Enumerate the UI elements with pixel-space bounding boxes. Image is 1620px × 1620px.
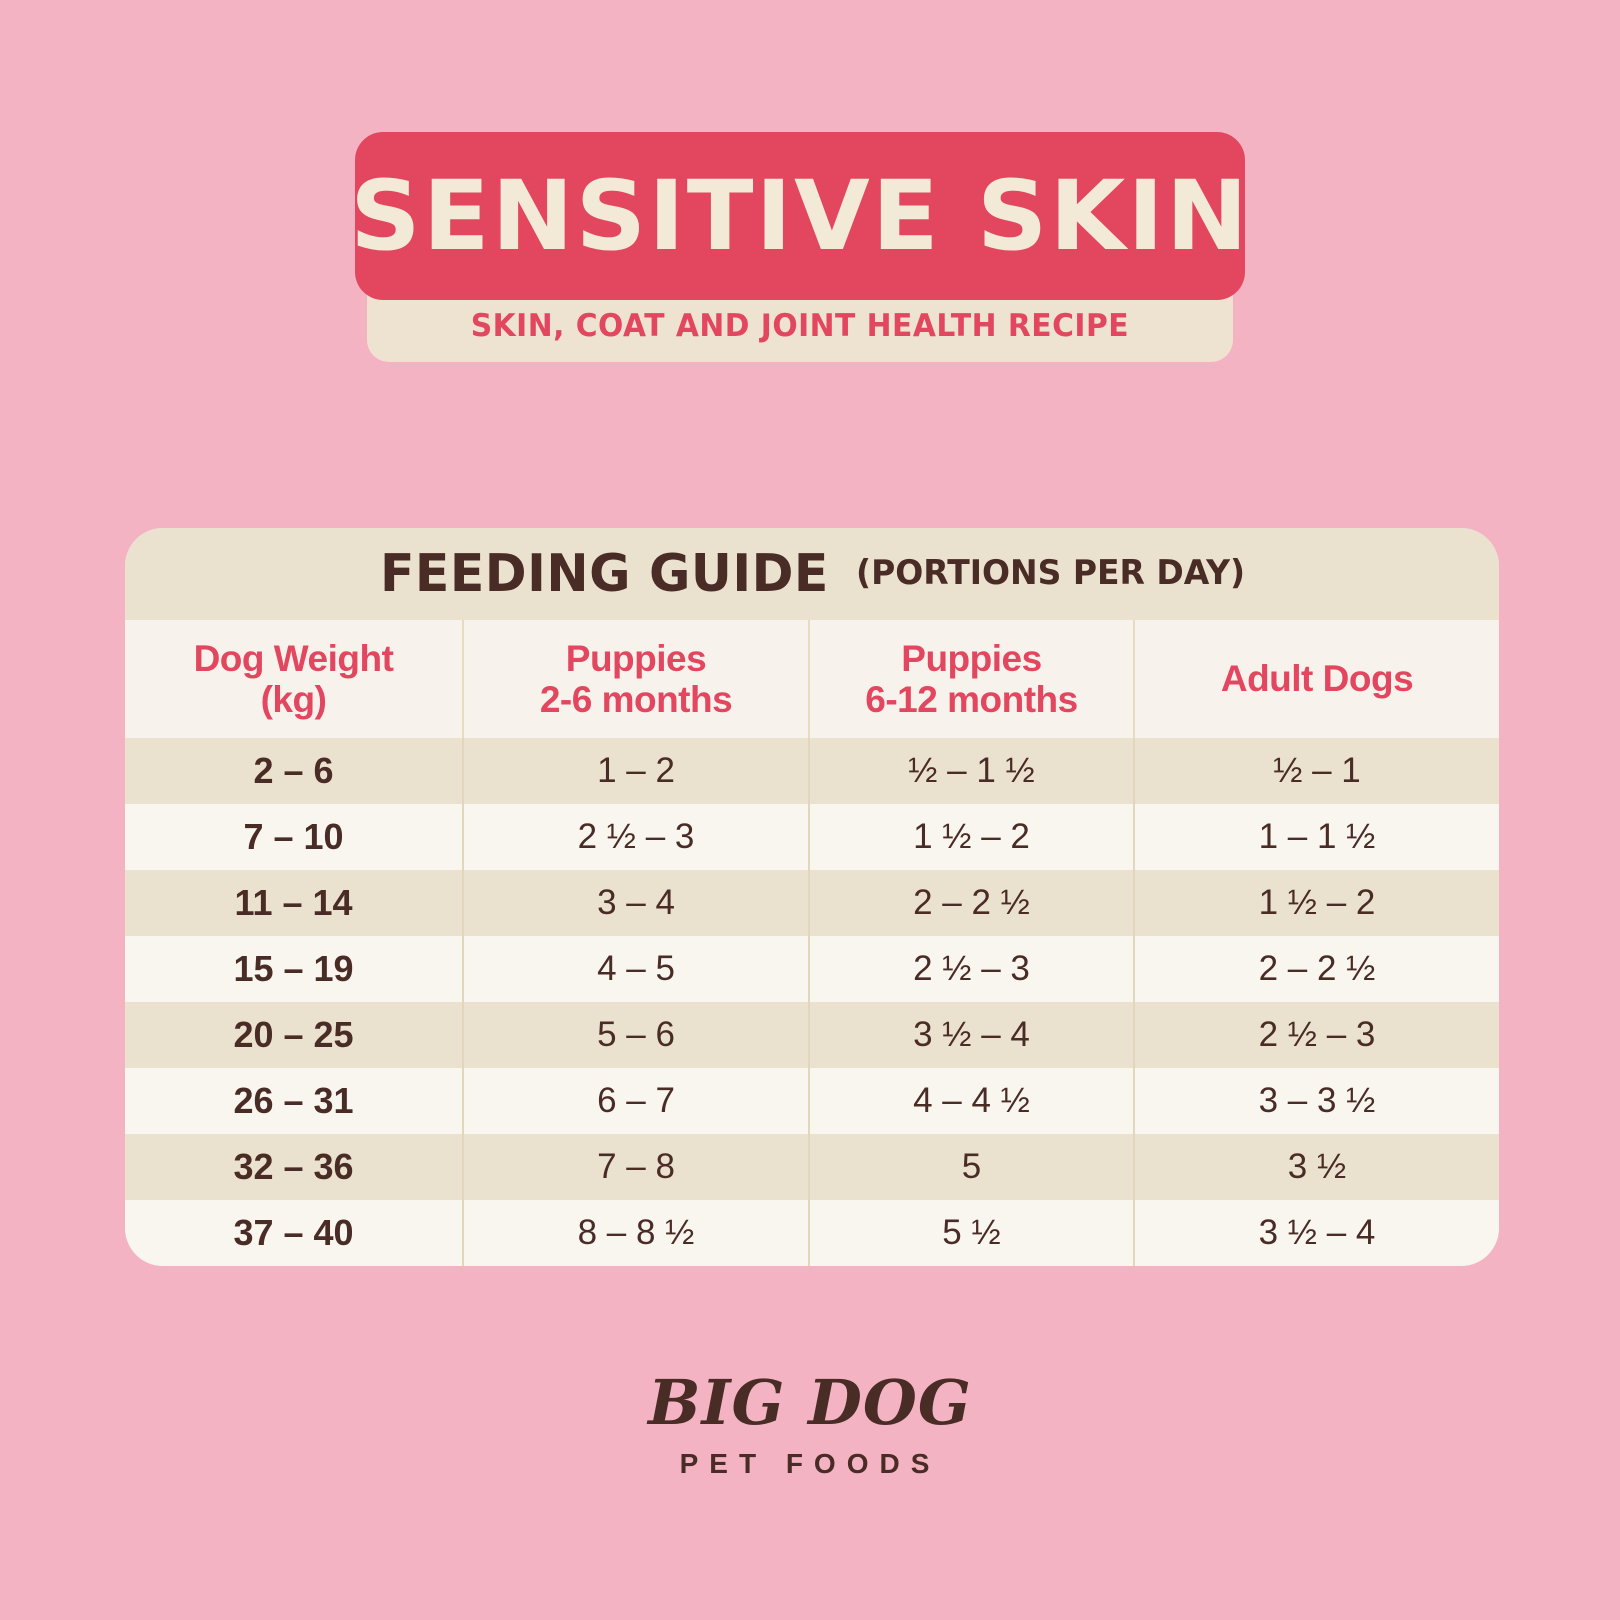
product-title-block: SENSITIVE SKIN SKIN, COAT AND JOINT HEAL…: [355, 132, 1245, 362]
cell-adult-dogs: 3 ½ – 4: [1135, 1200, 1499, 1266]
cell-puppies-2-6: 1 – 2: [464, 738, 810, 804]
cell-puppies-2-6: 7 – 8: [464, 1134, 810, 1200]
cell-adult-dogs: ½ – 1: [1135, 738, 1499, 804]
feeding-guide-title: FEEDING GUIDE: [380, 544, 829, 604]
table-row: 32 – 36 7 – 8 5 3 ½: [125, 1134, 1499, 1200]
cell-puppies-6-12: 2 – 2 ½: [810, 870, 1135, 936]
column-header-line2: 2-6 months: [540, 679, 732, 720]
table-row: 20 – 25 5 – 6 3 ½ – 4 2 ½ – 3: [125, 1002, 1499, 1068]
cell-dog-weight: 15 – 19: [125, 936, 464, 1002]
table-header-row: Dog Weight (kg) Puppies 2-6 months Puppi…: [125, 620, 1499, 738]
cell-dog-weight: 7 – 10: [125, 804, 464, 870]
brand-logo: BIG DOG PET FOODS: [0, 1372, 1620, 1478]
cell-adult-dogs: 1 ½ – 2: [1135, 870, 1499, 936]
cell-puppies-6-12: 1 ½ – 2: [810, 804, 1135, 870]
column-header-dog-weight: Dog Weight (kg): [125, 620, 464, 738]
cell-puppies-2-6: 4 – 5: [464, 936, 810, 1002]
cell-dog-weight: 20 – 25: [125, 1002, 464, 1068]
cell-puppies-6-12: 5 ½: [810, 1200, 1135, 1266]
product-title: SENSITIVE SKIN: [350, 168, 1250, 264]
feeding-guide-header: FEEDING GUIDE (PORTIONS PER DAY): [125, 528, 1499, 620]
cell-dog-weight: 11 – 14: [125, 870, 464, 936]
cell-puppies-2-6: 2 ½ – 3: [464, 804, 810, 870]
column-header-line2: 6-12 months: [865, 679, 1077, 720]
cell-dog-weight: 2 – 6: [125, 738, 464, 804]
column-header-line2: (kg): [194, 679, 394, 720]
cell-puppies-2-6: 8 – 8 ½: [464, 1200, 810, 1266]
cell-puppies-6-12: 2 ½ – 3: [810, 936, 1135, 1002]
feeding-guide-subtitle: (PORTIONS PER DAY): [856, 553, 1245, 596]
cell-puppies-6-12: 3 ½ – 4: [810, 1002, 1135, 1068]
product-subtitle: SKIN, COAT AND JOINT HEALTH RECIPE: [471, 308, 1129, 344]
cell-dog-weight: 37 – 40: [125, 1200, 464, 1266]
cell-adult-dogs: 1 – 1 ½: [1135, 804, 1499, 870]
column-header-line1: Dog Weight: [194, 638, 394, 679]
cell-puppies-6-12: 4 – 4 ½: [810, 1068, 1135, 1134]
column-header-line1: Adult Dogs: [1221, 658, 1413, 699]
cell-adult-dogs: 3 – 3 ½: [1135, 1068, 1499, 1134]
cell-dog-weight: 32 – 36: [125, 1134, 464, 1200]
cell-adult-dogs: 3 ½: [1135, 1134, 1499, 1200]
cell-puppies-2-6: 6 – 7: [464, 1068, 810, 1134]
cell-adult-dogs: 2 – 2 ½: [1135, 936, 1499, 1002]
table-row: 26 – 31 6 – 7 4 – 4 ½ 3 – 3 ½: [125, 1068, 1499, 1134]
brand-wordmark: BIG DOG: [0, 1372, 1620, 1434]
table-row: 15 – 19 4 – 5 2 ½ – 3 2 – 2 ½: [125, 936, 1499, 1002]
table-row: 37 – 40 8 – 8 ½ 5 ½ 3 ½ – 4: [125, 1200, 1499, 1266]
cell-puppies-6-12: ½ – 1 ½: [810, 738, 1135, 804]
cell-puppies-2-6: 3 – 4: [464, 870, 810, 936]
column-header-adult-dogs: Adult Dogs: [1135, 620, 1499, 738]
product-title-banner: SENSITIVE SKIN: [355, 132, 1245, 300]
table-row: 2 – 6 1 – 2 ½ – 1 ½ ½ – 1: [125, 738, 1499, 804]
cell-adult-dogs: 2 ½ – 3: [1135, 1002, 1499, 1068]
column-header-line1: Puppies: [540, 638, 732, 679]
table-row: 11 – 14 3 – 4 2 – 2 ½ 1 ½ – 2: [125, 870, 1499, 936]
feeding-guide-card: FEEDING GUIDE (PORTIONS PER DAY) Dog Wei…: [125, 528, 1499, 1266]
column-header-puppies-2-6: Puppies 2-6 months: [464, 620, 810, 738]
table-row: 7 – 10 2 ½ – 3 1 ½ – 2 1 – 1 ½: [125, 804, 1499, 870]
cell-puppies-2-6: 5 – 6: [464, 1002, 810, 1068]
brand-tagline: PET FOODS: [0, 1450, 1620, 1478]
column-header-puppies-6-12: Puppies 6-12 months: [810, 620, 1135, 738]
column-header-line1: Puppies: [865, 638, 1077, 679]
cell-puppies-6-12: 5: [810, 1134, 1135, 1200]
cell-dog-weight: 26 – 31: [125, 1068, 464, 1134]
